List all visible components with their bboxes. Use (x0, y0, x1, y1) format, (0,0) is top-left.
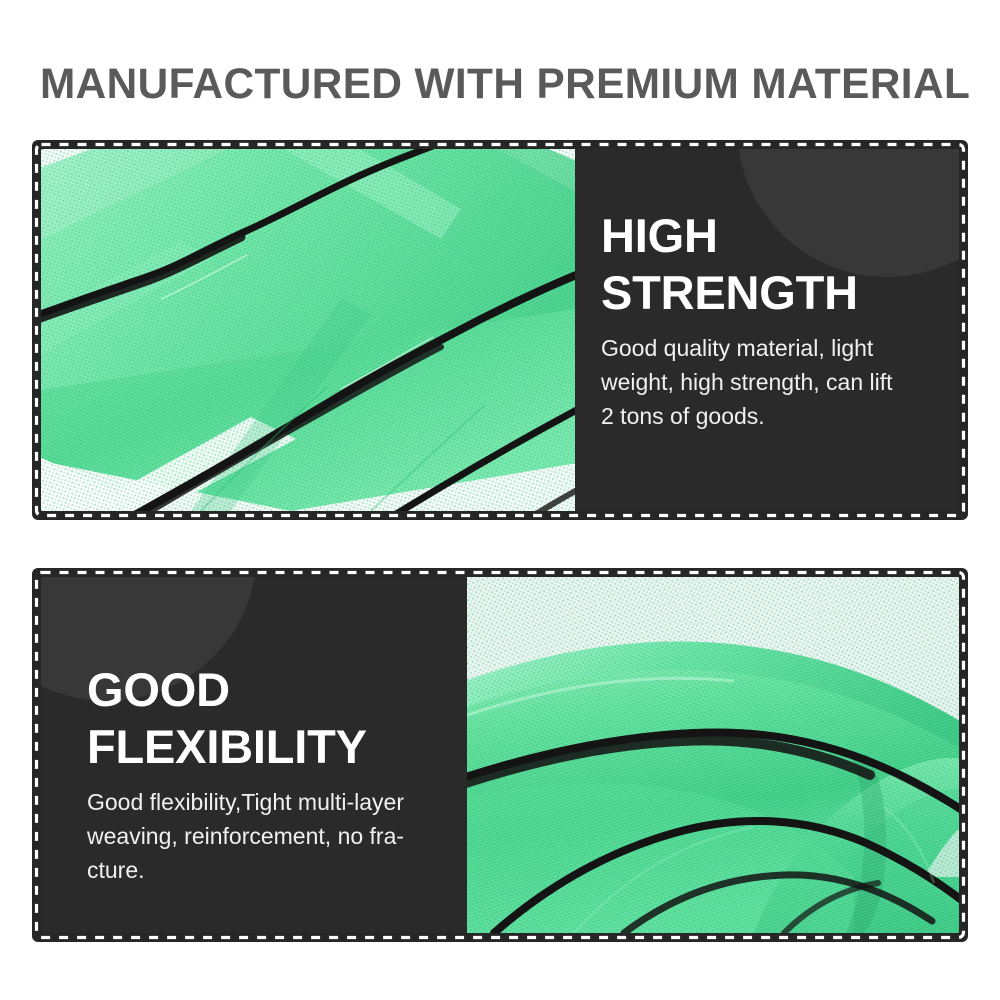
infographic-page: MANUFACTURED WITH PREMIUM MATERIAL (0, 0, 1000, 1000)
feature-description: Good quality material, light weight, hig… (601, 331, 959, 433)
feature-text-high-strength: HIGH STRENGTH Good quality material, lig… (601, 207, 959, 433)
panel-content-area: GOOD FLEXIBILITY Good flexibility,Tight … (41, 577, 959, 933)
panel-content-area: HIGH STRENGTH Good quality material, lig… (41, 149, 959, 511)
page-title: MANUFACTURED WITH PREMIUM MATERIAL (40, 62, 956, 106)
feature-description: Good flexibility,Tight multi-layer weavi… (87, 785, 459, 887)
product-image-high-strength (41, 149, 575, 511)
feature-text-good-flexibility: GOOD FLEXIBILITY Good flexibility,Tight … (87, 661, 459, 887)
feature-panel-good-flexibility: GOOD FLEXIBILITY Good flexibility,Tight … (32, 568, 968, 942)
product-image-good-flexibility (467, 577, 959, 933)
sling-webbing-illustration (41, 149, 575, 511)
sling-flexibility-illustration (467, 577, 959, 933)
feature-panel-high-strength: HIGH STRENGTH Good quality material, lig… (32, 140, 968, 520)
feature-heading: GOOD FLEXIBILITY (87, 661, 459, 775)
feature-heading: HIGH STRENGTH (601, 207, 959, 321)
